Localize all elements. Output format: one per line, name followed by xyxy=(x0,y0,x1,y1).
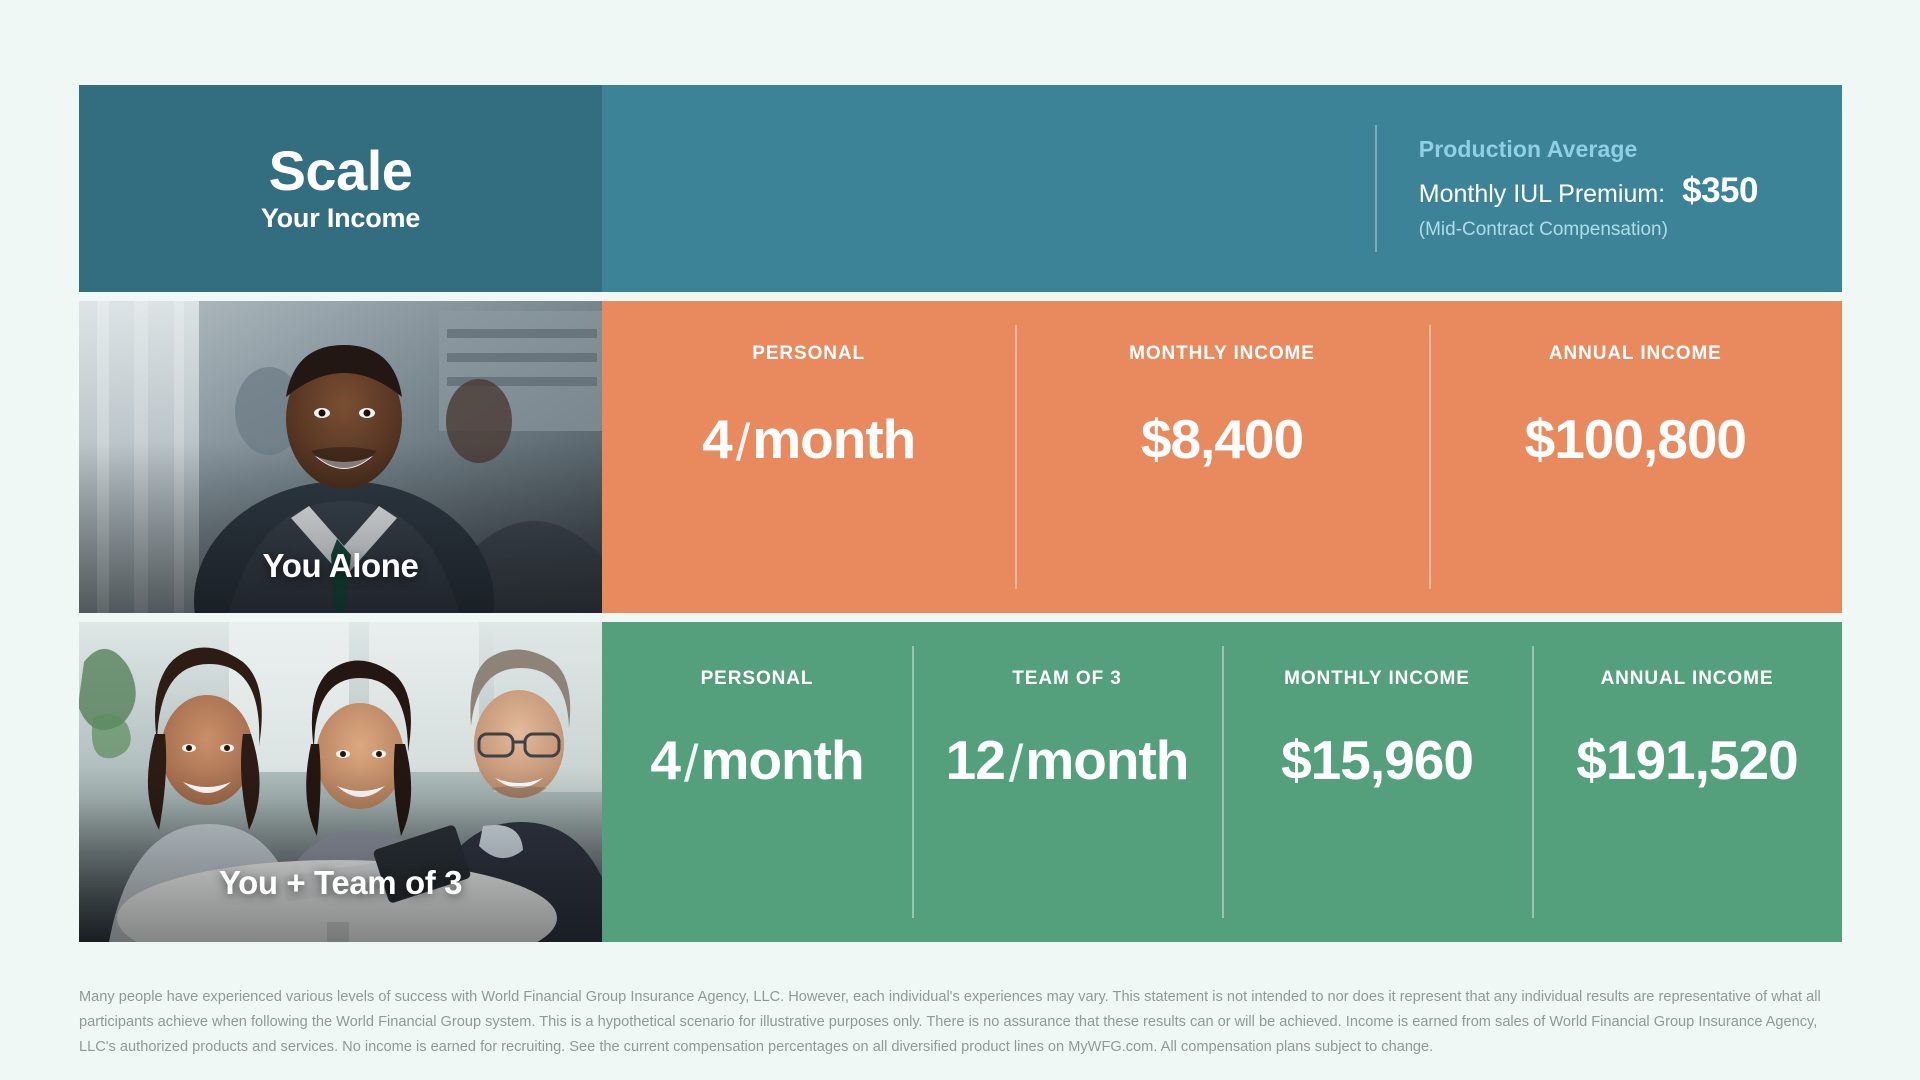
income-scale-infographic: Scale Your Income Production Average Mon… xyxy=(0,0,1920,1080)
production-average-block: Production Average Monthly IUL Premium: … xyxy=(1375,125,1758,252)
metric-team-of-3: TEAM OF 3 12 / month xyxy=(912,622,1222,942)
metric-unit: month xyxy=(752,407,915,471)
metric-personal: PERSONAL 4 / month xyxy=(602,622,912,942)
mid-contract-compensation-note: (Mid-Contract Compensation) xyxy=(1419,219,1758,241)
metric-number: 4 xyxy=(650,728,680,792)
infographic-board: Scale Your Income Production Average Mon… xyxy=(79,85,1842,942)
page-subtitle: Your Income xyxy=(261,202,420,234)
metric-value: 12 / month xyxy=(946,728,1189,792)
page-title: Scale xyxy=(269,142,413,199)
metric-value: $8,400 xyxy=(1141,407,1303,471)
metric-annual-income: ANNUAL INCOME $100,800 xyxy=(1429,301,1842,613)
disclaimer-text: Many people have experienced various lev… xyxy=(79,985,1844,1060)
metric-label: PERSONAL xyxy=(701,668,814,690)
metrics-you-alone: PERSONAL 4 / month MONTHLY INCOME $8,400… xyxy=(602,301,1842,613)
row-you-alone: You Alone PERSONAL 4 / month MONTHLY INC… xyxy=(79,301,1842,613)
metric-label: PERSONAL xyxy=(752,343,865,365)
header-row: Scale Your Income Production Average Mon… xyxy=(79,85,1842,292)
metric-unit: month xyxy=(1025,728,1188,792)
metric-annual-income: ANNUAL INCOME $191,520 xyxy=(1532,622,1842,942)
photo-you-plus-team: You + Team of 3 xyxy=(79,622,602,942)
metric-separator: / xyxy=(1009,734,1023,794)
metric-monthly-income: MONTHLY INCOME $15,960 xyxy=(1222,622,1532,942)
metric-label: ANNUAL INCOME xyxy=(1549,343,1722,365)
metric-value: $100,800 xyxy=(1525,407,1746,471)
metric-monthly-income: MONTHLY INCOME $8,400 xyxy=(1015,301,1428,613)
metric-label: TEAM OF 3 xyxy=(1012,668,1121,690)
metric-label: MONTHLY INCOME xyxy=(1129,343,1315,365)
row-you-plus-team: You + Team of 3 PERSONAL 4 / month TEAM … xyxy=(79,622,1842,942)
metric-label: ANNUAL INCOME xyxy=(1601,668,1774,690)
monthly-iul-premium-label: Monthly IUL Premium: xyxy=(1419,180,1665,209)
header-title-panel: Scale Your Income xyxy=(79,85,602,292)
metric-value: 4 / month xyxy=(650,728,863,792)
metric-separator: / xyxy=(736,413,750,473)
caption-you-plus-team: You + Team of 3 xyxy=(79,864,602,902)
header-production-panel: Production Average Monthly IUL Premium: … xyxy=(602,85,1842,292)
metric-personal: PERSONAL 4 / month xyxy=(602,301,1015,613)
metric-label: MONTHLY INCOME xyxy=(1284,668,1470,690)
metric-value: 4 / month xyxy=(702,407,915,471)
metric-value: $191,520 xyxy=(1576,728,1797,792)
metric-unit: month xyxy=(701,728,864,792)
metric-value: $15,960 xyxy=(1281,728,1473,792)
monthly-iul-premium-value: $350 xyxy=(1682,171,1758,211)
metric-number: 12 xyxy=(946,728,1005,792)
monthly-iul-premium-line: Monthly IUL Premium: $350 xyxy=(1419,171,1758,211)
metrics-you-plus-team: PERSONAL 4 / month TEAM OF 3 12 / month xyxy=(602,622,1842,942)
caption-you-alone: You Alone xyxy=(79,547,602,585)
photo-you-alone: You Alone xyxy=(79,301,602,613)
metric-separator: / xyxy=(684,734,698,794)
metric-number: 4 xyxy=(702,407,732,471)
production-average-heading: Production Average xyxy=(1419,136,1758,163)
